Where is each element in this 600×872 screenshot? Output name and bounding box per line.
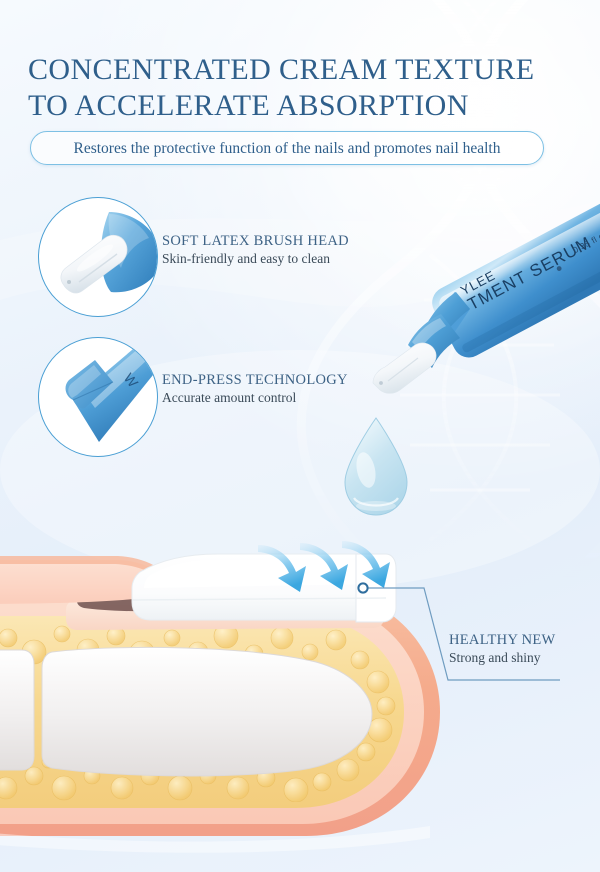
page-headline: CONCENTRATED CREAM TEXTURE TO ACCELERATE… — [28, 52, 576, 124]
nail-matrix-shadow — [77, 593, 240, 612]
feature-text-end-press: END-PRESS TECHNOLOGY Accurate amount con… — [162, 371, 348, 407]
skin-outer-layer — [0, 588, 440, 836]
feature-circle-end-press: W — [38, 337, 158, 457]
proximal-nail-fold — [0, 560, 172, 604]
brush-head-icon — [39, 198, 157, 316]
arrow-1 — [258, 545, 306, 592]
tube-name-text: TMENT SERUM — [465, 233, 595, 314]
distal-phalanx-bone — [42, 647, 372, 776]
arrow-3 — [342, 541, 390, 588]
tube-brand-text: YLEE — [458, 267, 498, 298]
headline-line-1: CONCENTRATED CREAM TEXTURE — [28, 53, 535, 86]
callout-title: HEALTHY NEW — [449, 631, 556, 649]
nail-free-edge — [356, 554, 396, 622]
brush-tip — [373, 343, 436, 393]
callout-subtitle: Strong and shiny — [449, 649, 556, 667]
nail-plate — [132, 554, 386, 620]
serum-droplet — [345, 418, 407, 515]
skin-inner-layer — [0, 600, 424, 824]
adjacent-bone-segment — [0, 650, 34, 770]
healthy-nail-marker — [358, 583, 367, 592]
brush-tip-hole — [379, 381, 383, 385]
feature-title-end-press: END-PRESS TECHNOLOGY — [162, 371, 348, 389]
subtitle-pill: Restores the protective function of the … — [30, 131, 544, 165]
nail-bed — [66, 598, 384, 630]
feature-title-brush-head: SOFT LATEX BRUSH HEAD — [162, 232, 349, 250]
fat-globules — [0, 624, 395, 802]
feature-subtitle-end-press: Accurate amount control — [162, 389, 348, 407]
feature-text-brush-head: SOFT LATEX BRUSH HEAD Skin-friendly and … — [162, 232, 349, 268]
callout-healthy-new: HEALTHY NEW Strong and shiny — [449, 631, 556, 667]
absorption-arrows — [258, 541, 390, 592]
headline-line-2: TO ACCELERATE ABSORPTION — [28, 88, 576, 124]
infographic-page: CONCENTRATED CREAM TEXTURE TO ACCELERATE… — [0, 0, 600, 872]
crimped-tube-end-icon: W — [39, 338, 157, 456]
fat-tissue-layer — [0, 616, 404, 808]
arrow-2 — [300, 543, 348, 590]
tube-collar — [408, 314, 460, 368]
subtitle-text: Restores the protective function of the … — [74, 140, 501, 157]
feature-subtitle-brush-head: Skin-friendly and easy to clean — [162, 250, 349, 268]
feature-circle-brush-head — [38, 197, 158, 317]
tube-volume-text: 0.35 fl oz / 10ml — [571, 215, 600, 255]
